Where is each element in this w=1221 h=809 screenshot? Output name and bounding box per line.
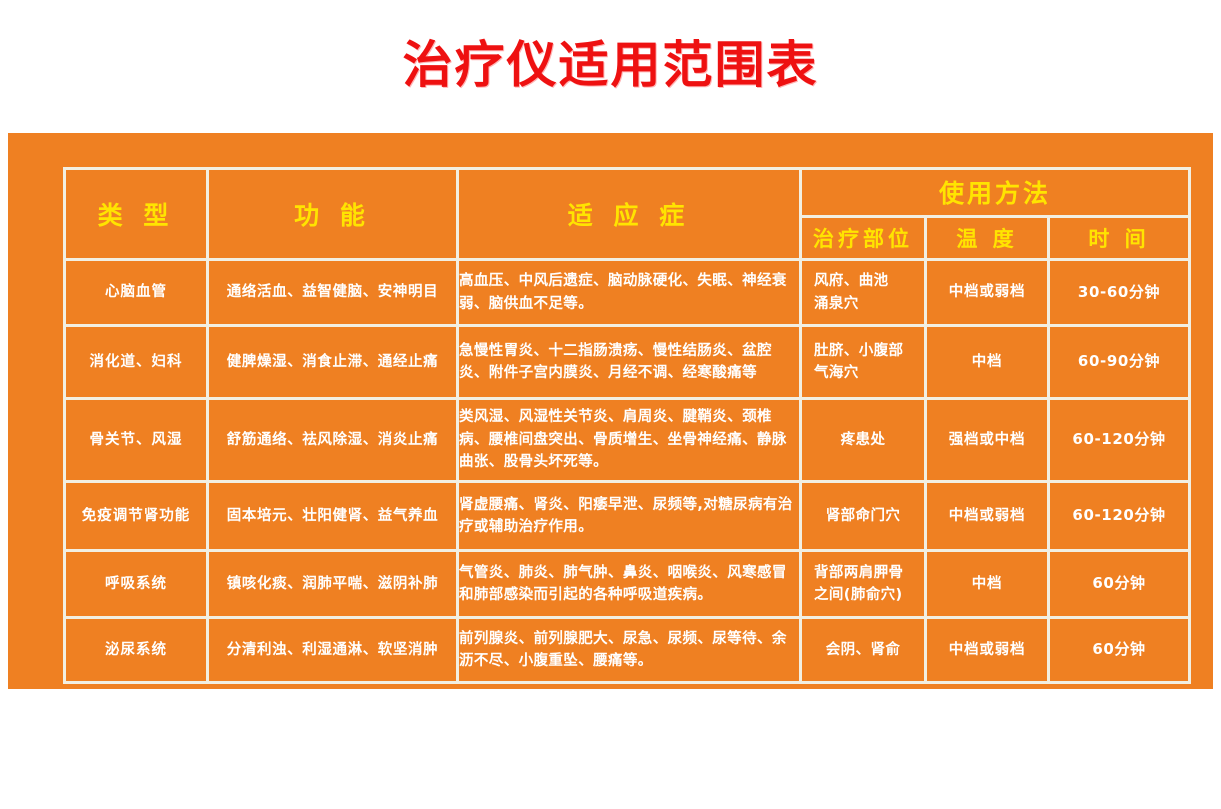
table-row: 免疫调节肾功能 固本培元、壮阳健肾、益气养血 肾虚腰痛、肾炎、阳痿早泄、尿频等,… xyxy=(66,483,1188,549)
header-time: 时 间 xyxy=(1050,218,1188,258)
header-symptoms: 适 应 症 xyxy=(459,170,799,258)
cell-part: 背部两肩胛骨之间(肺俞穴) xyxy=(802,552,924,616)
table-row: 心脑血管 通络活血、益智健脑、安神明目 高血压、中风后遗症、脑动脉硬化、失眠、神… xyxy=(66,261,1188,324)
table-row: 呼吸系统 镇咳化痰、润肺平喘、滋阴补肺 气管炎、肺炎、肺气肿、鼻炎、咽喉炎、风寒… xyxy=(66,552,1188,616)
cell-temperature: 中档或弱档 xyxy=(927,483,1047,549)
cell-time: 60-90分钟 xyxy=(1050,327,1188,397)
cell-part: 风府、曲池涌泉穴 xyxy=(802,261,924,324)
cell-function: 分清利浊、利湿通淋、软坚消肿 xyxy=(209,619,456,681)
cell-symptoms: 肾虚腰痛、肾炎、阳痿早泄、尿频等,对糖尿病有治疗或辅助治疗作用。 xyxy=(459,483,799,549)
page-title: 治疗仪适用范围表 xyxy=(403,40,819,90)
cell-function: 镇咳化痰、润肺平喘、滋阴补肺 xyxy=(209,552,456,616)
cell-part: 会阴、肾俞 xyxy=(802,619,924,681)
cell-temperature: 中档或弱档 xyxy=(927,261,1047,324)
page-root: 治疗仪适用范围表 类 型 功 能 适 应 症 使用方法 xyxy=(0,0,1221,715)
cell-time: 60-120分钟 xyxy=(1050,483,1188,549)
table-row: 骨关节、风湿 舒筋通络、祛风除湿、消炎止痛 类风湿、风湿性关节炎、肩周炎、腱鞘炎… xyxy=(66,400,1188,480)
cell-symptoms: 高血压、中风后遗症、脑动脉硬化、失眠、神经衰弱、脑供血不足等。 xyxy=(459,261,799,324)
table-row: 消化道、妇科 健脾燥湿、消食止滞、通经止痛 急慢性胃炎、十二指肠溃疡、慢性结肠炎… xyxy=(66,327,1188,397)
suitability-table: 类 型 功 能 适 应 症 使用方法 治疗部位 温 度 时 间 心脑血管 通 xyxy=(63,167,1191,684)
cell-function: 健脾燥湿、消食止滞、通经止痛 xyxy=(209,327,456,397)
cell-function: 通络活血、益智健脑、安神明目 xyxy=(209,261,456,324)
header-function: 功 能 xyxy=(209,170,456,258)
cell-time: 60-120分钟 xyxy=(1050,400,1188,480)
header-usage-group: 使用方法 xyxy=(802,170,1188,215)
cell-part: 肾部命门穴 xyxy=(802,483,924,549)
title-bar: 治疗仪适用范围表 xyxy=(0,0,1221,130)
cell-function: 固本培元、壮阳健肾、益气养血 xyxy=(209,483,456,549)
cell-type: 心脑血管 xyxy=(66,261,206,324)
cell-function: 舒筋通络、祛风除湿、消炎止痛 xyxy=(209,400,456,480)
orange-panel: 类 型 功 能 适 应 症 使用方法 治疗部位 温 度 时 间 心脑血管 通 xyxy=(8,133,1213,689)
table-body: 心脑血管 通络活血、益智健脑、安神明目 高血压、中风后遗症、脑动脉硬化、失眠、神… xyxy=(66,261,1188,681)
table-row: 泌尿系统 分清利浊、利湿通淋、软坚消肿 前列腺炎、前列腺肥大、尿急、尿频、尿等待… xyxy=(66,619,1188,681)
table-head: 类 型 功 能 适 应 症 使用方法 治疗部位 温 度 时 间 xyxy=(66,170,1188,258)
cell-symptoms: 前列腺炎、前列腺肥大、尿急、尿频、尿等待、余沥不尽、小腹重坠、腰痛等。 xyxy=(459,619,799,681)
cell-type: 泌尿系统 xyxy=(66,619,206,681)
header-part: 治疗部位 xyxy=(802,218,924,258)
cell-time: 60分钟 xyxy=(1050,552,1188,616)
cell-temperature: 中档或弱档 xyxy=(927,619,1047,681)
cell-time: 30-60分钟 xyxy=(1050,261,1188,324)
cell-type: 呼吸系统 xyxy=(66,552,206,616)
cell-temperature: 中档 xyxy=(927,552,1047,616)
header-type: 类 型 xyxy=(66,170,206,258)
cell-part: 肚脐、小腹部气海穴 xyxy=(802,327,924,397)
cell-type: 骨关节、风湿 xyxy=(66,400,206,480)
header-row-top: 类 型 功 能 适 应 症 使用方法 xyxy=(66,170,1188,215)
cell-part: 疼患处 xyxy=(802,400,924,480)
cell-symptoms: 急慢性胃炎、十二指肠溃疡、慢性结肠炎、盆腔炎、附件子宫内膜炎、月经不调、经寒酸痛… xyxy=(459,327,799,397)
cell-temperature: 强档或中档 xyxy=(927,400,1047,480)
cell-symptoms: 气管炎、肺炎、肺气肿、鼻炎、咽喉炎、风寒感冒和肺部感染而引起的各种呼吸道疾病。 xyxy=(459,552,799,616)
cell-temperature: 中档 xyxy=(927,327,1047,397)
cell-type: 消化道、妇科 xyxy=(66,327,206,397)
header-temperature: 温 度 xyxy=(927,218,1047,258)
cell-time: 60分钟 xyxy=(1050,619,1188,681)
table-wrap: 类 型 功 能 适 应 症 使用方法 治疗部位 温 度 时 间 心脑血管 通 xyxy=(63,167,1170,809)
cell-symptoms: 类风湿、风湿性关节炎、肩周炎、腱鞘炎、颈椎病、腰椎间盘突出、骨质增生、坐骨神经痛… xyxy=(459,400,799,480)
cell-type: 免疫调节肾功能 xyxy=(66,483,206,549)
